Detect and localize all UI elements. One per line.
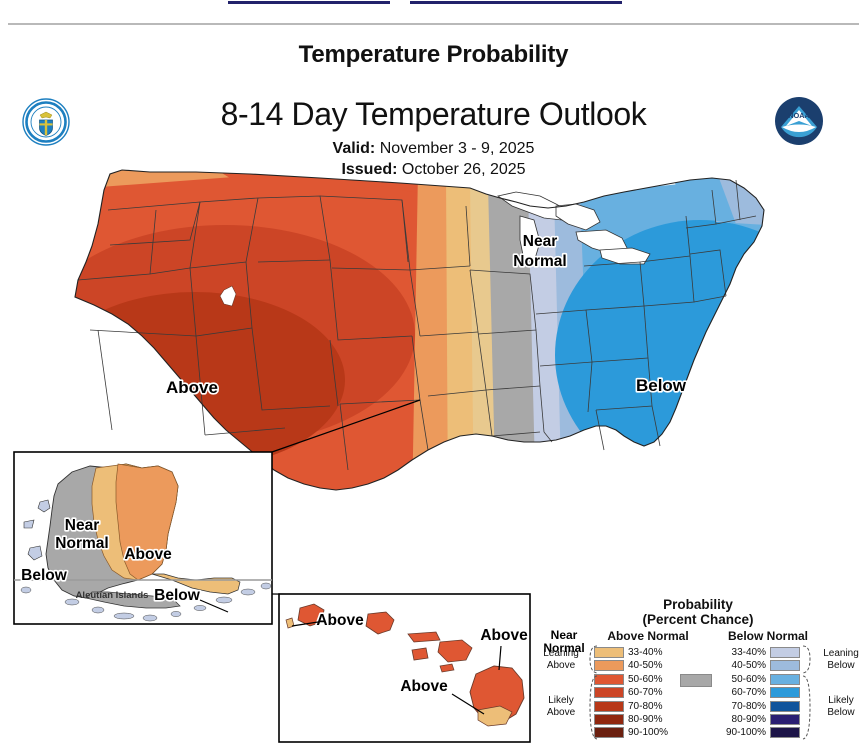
legend-swatch-below-50-60 (770, 674, 800, 685)
legend-title-line2: (Percent Chance) (532, 612, 864, 627)
top-link-2[interactable] (410, 0, 622, 4)
map-label-above-alaska: Above (124, 546, 172, 563)
legend-label-above-40-50: 40-50% (628, 660, 688, 671)
map-label-below-aleutians: Below (154, 587, 201, 604)
legend-label-below-90-100: 90-100% (708, 727, 766, 738)
leaning-above-line2: Above (534, 660, 588, 672)
legend-above-heading: Above Normal (588, 629, 708, 643)
aleutian-islands-title: Aleutian Islands (76, 590, 149, 601)
likely-above-line1: Likely (534, 695, 588, 707)
likely-below-line1: Likely (816, 695, 866, 707)
legend-label-above-70-80: 70-80% (628, 701, 688, 712)
legend-title: Probability (Percent Chance) (532, 596, 864, 627)
legend-label-above-90-100: 90-100% (628, 727, 688, 738)
legend-label-above-80-90: 80-90% (628, 714, 688, 725)
horizontal-divider (8, 23, 859, 25)
map-label-above-bigisland-south: Above (400, 678, 448, 695)
legend-leaning-below-label: Leaning Below (816, 648, 866, 671)
legend-label-below-80-90: 80-90% (708, 714, 766, 725)
legend-swatch-below-40-50 (770, 660, 800, 671)
legend-label-above-60-70: 60-70% (628, 687, 688, 698)
leaning-below-line2: Below (816, 660, 866, 672)
legend-label-below-50-60: 50-60% (708, 674, 766, 685)
legend-label-below-40-50: 40-50% (708, 660, 766, 671)
legend-likely-above-label: Likely Above (534, 695, 588, 718)
bracket-likely-above (588, 675, 598, 741)
leaning-above-line1: Leaning (534, 648, 588, 660)
legend-swatch-below-80-90 (770, 714, 800, 725)
map-label-near-conus: Near (523, 233, 557, 250)
island-lanai (412, 648, 428, 660)
top-link-1[interactable] (228, 0, 390, 4)
map-label-above-kauai: Above (316, 612, 364, 629)
map-label-normal-conus: Normal (513, 253, 566, 270)
legend-label-below-70-80: 70-80% (708, 701, 766, 712)
legend-body: Above Normal Below Normal Near Normal 33… (532, 629, 864, 741)
hawaii-inset: Above Above Above (279, 594, 530, 742)
bracket-leaning-below (802, 645, 812, 675)
legend-swatch-above-60-70 (594, 687, 624, 698)
legend-likely-below-label: Likely Below (816, 695, 866, 718)
top-link-bar (0, 0, 867, 16)
legend-swatch-below-70-80 (770, 701, 800, 712)
noaa-seal-icon: NOAA (774, 96, 824, 146)
map-label-below-alaska: Below (21, 567, 68, 584)
legend-label-above-50-60: 50-60% (628, 674, 688, 685)
outlook-page: Temperature Probability 8-14 Day Tempera… (0, 0, 867, 750)
island-molokai (408, 632, 440, 642)
map-label-near-alaska: Near (65, 517, 99, 534)
legend-label-below-33-40: 33-40% (708, 647, 766, 658)
legend-swatch-above-40-50 (594, 660, 624, 671)
bracket-leaning-above (588, 645, 598, 675)
likely-above-line2: Above (534, 707, 588, 719)
map-label-below-conus: Below (636, 376, 687, 395)
noaa-seal-text: NOAA (788, 111, 809, 120)
map-label-normal-alaska: Normal (55, 535, 108, 552)
legend-swatch-above-90-100 (594, 727, 624, 738)
legend-swatch-above-80-90 (594, 714, 624, 725)
department-of-commerce-seal-icon (22, 98, 70, 146)
map-label-above-bigisland-top: Above (480, 627, 528, 644)
legend-swatch-below-90-100 (770, 727, 800, 738)
page-title: Temperature Probability (0, 41, 867, 69)
likely-below-line2: Below (816, 707, 866, 719)
map-title: 8-14 Day Temperature Outlook (0, 96, 867, 133)
legend-swatch-below-33-40 (770, 647, 800, 658)
legend-title-line1: Probability (532, 597, 864, 612)
probability-legend: Probability (Percent Chance) Above Norma… (532, 596, 864, 748)
legend-swatch-above-70-80 (594, 701, 624, 712)
bracket-likely-below (802, 675, 812, 741)
legend-leaning-above-label: Leaning Above (534, 648, 588, 671)
leaning-below-line1: Leaning (816, 648, 866, 660)
legend-below-heading: Below Normal (708, 629, 828, 643)
legend-label-above-33-40: 33-40% (628, 647, 688, 658)
legend-label-below-60-70: 60-70% (708, 687, 766, 698)
map-label-above-conus: Above (166, 378, 218, 397)
legend-swatch-below-60-70 (770, 687, 800, 698)
legend-swatch-above-50-60 (594, 674, 624, 685)
legend-swatch-above-33-40 (594, 647, 624, 658)
